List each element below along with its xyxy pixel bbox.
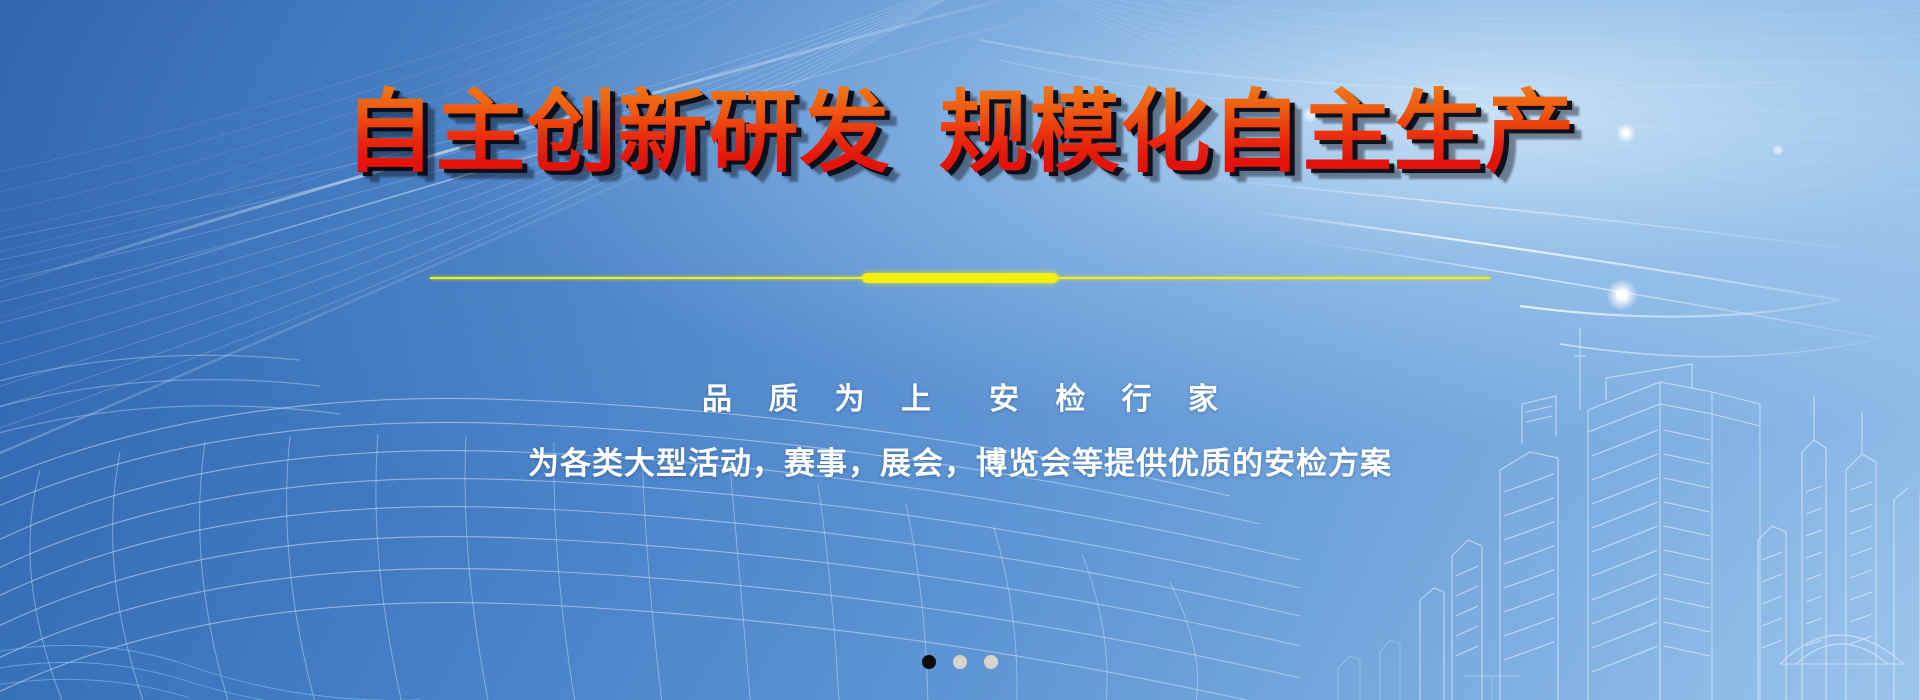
banner-content: 自主创新研发 规模化自主生产 品 质 为 上 安 检 行 家 为各类大型活动，赛… [0, 0, 1920, 700]
headline: 自主创新研发 规模化自主生产 [0, 78, 1920, 188]
hero-banner: 自主创新研发 规模化自主生产 品 质 为 上 安 检 行 家 为各类大型活动，赛… [0, 0, 1920, 700]
headline-part-1: 自主创新研发 [345, 85, 891, 181]
carousel-dots[interactable] [0, 655, 1920, 669]
headline-part-2: 规模化自主生产 [939, 85, 1576, 181]
carousel-dot-3[interactable] [984, 655, 998, 669]
divider-center-bar [862, 273, 1058, 283]
yellow-divider [0, 272, 1920, 284]
subtitle-primary: 品 质 为 上 安 检 行 家 [0, 378, 1920, 422]
subtitle-secondary: 为各类大型活动，赛事，展会，博览会等提供优质的安检方案 [0, 440, 1920, 488]
carousel-dot-2[interactable] [953, 655, 967, 669]
carousel-dot-1[interactable] [922, 655, 936, 669]
